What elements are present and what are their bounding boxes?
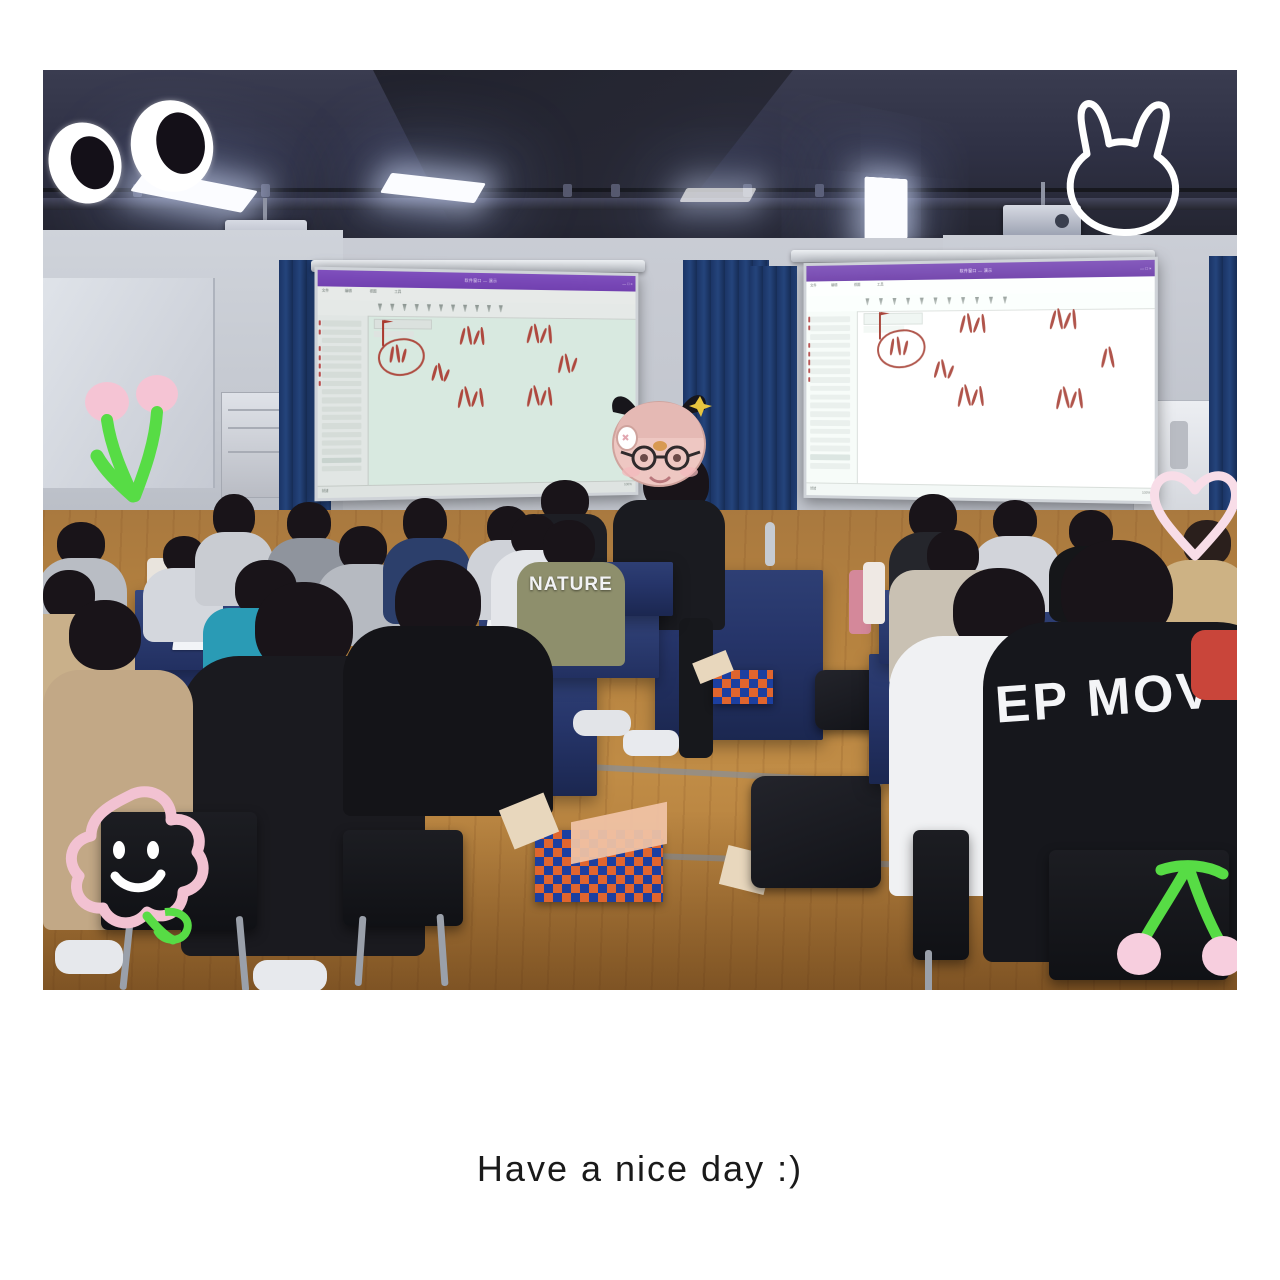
chair <box>101 812 257 930</box>
status-left-text: 就绪 <box>322 488 329 493</box>
menu-item-3[interactable]: 工具 <box>877 282 884 287</box>
led-panel-4 <box>679 188 756 202</box>
mic-stand <box>765 522 775 566</box>
menu-item-3[interactable]: 工具 <box>394 288 401 293</box>
chair-leg <box>925 950 932 990</box>
menu-item-2[interactable]: 视图 <box>854 282 861 287</box>
projection-screen-left: 软件窗口 — 演示 — □ × 文件 编辑 视图 工具 <box>314 267 638 502</box>
menu-item-1[interactable]: 编辑 <box>831 283 837 288</box>
rail-clip <box>261 184 270 197</box>
shoe <box>253 960 327 990</box>
app-toolbar[interactable] <box>806 291 1154 313</box>
app-title-text: 软件窗口 — 演示 <box>960 268 993 275</box>
led-panel-3 <box>865 177 908 242</box>
chair <box>1049 850 1229 980</box>
classroom-photo: 软件窗口 — 演示 — □ × 文件 编辑 视图 工具 <box>43 70 1237 990</box>
chair <box>913 830 969 960</box>
shoe <box>573 710 631 736</box>
menu-item-0[interactable]: 文件 <box>810 283 816 288</box>
projected-app-ui-left: 软件窗口 — 演示 — □ × 文件 编辑 视图 工具 <box>318 270 636 498</box>
caption-text: Have a nice day :) <box>0 1148 1280 1190</box>
shoe <box>55 940 123 974</box>
app-sidebar[interactable] <box>806 311 857 484</box>
electrical-knob <box>1170 421 1188 469</box>
water-bottle <box>863 562 885 624</box>
rail-clip <box>815 184 824 197</box>
projector-mount-left <box>263 198 267 222</box>
menu-item-1[interactable]: 编辑 <box>345 287 352 292</box>
projector-lens-icon <box>1055 214 1069 228</box>
window-buttons: — □ × <box>622 281 632 286</box>
annotation-circle-mark <box>875 327 928 372</box>
menu-item-2[interactable]: 视图 <box>370 288 377 293</box>
app-breadcrumb[interactable] <box>863 313 923 325</box>
status-left-text: 就绪 <box>810 485 816 490</box>
app-sidebar[interactable] <box>318 315 369 486</box>
app-title-text: 软件窗口 — 演示 <box>465 277 498 284</box>
projected-app-ui-right: 软件窗口 — 演示 — □ × 文件 编辑 视图 工具 <box>806 260 1154 501</box>
window-buttons: — □ × <box>1140 266 1151 271</box>
status-right-text: 100% <box>1142 490 1151 494</box>
ceiling-projector-right <box>1003 205 1081 237</box>
app-statusbar: 就绪 100% <box>806 483 1154 502</box>
menu-item-0[interactable]: 文件 <box>322 287 329 292</box>
chair <box>343 830 463 926</box>
projection-screen-right: 软件窗口 — 演示 — □ × 文件 编辑 视图 工具 <box>804 257 1158 505</box>
status-right-text: 100% <box>624 483 632 487</box>
rail-clip <box>611 184 620 197</box>
left-wall-panel <box>43 278 215 488</box>
page-canvas: 软件窗口 — 演示 — □ × 文件 编辑 视图 工具 <box>0 0 1280 1280</box>
app-subcrumb[interactable] <box>374 331 413 338</box>
nature-shirt-text: NATURE <box>529 574 613 596</box>
black-backpack <box>751 776 881 888</box>
rail-clip <box>563 184 572 197</box>
